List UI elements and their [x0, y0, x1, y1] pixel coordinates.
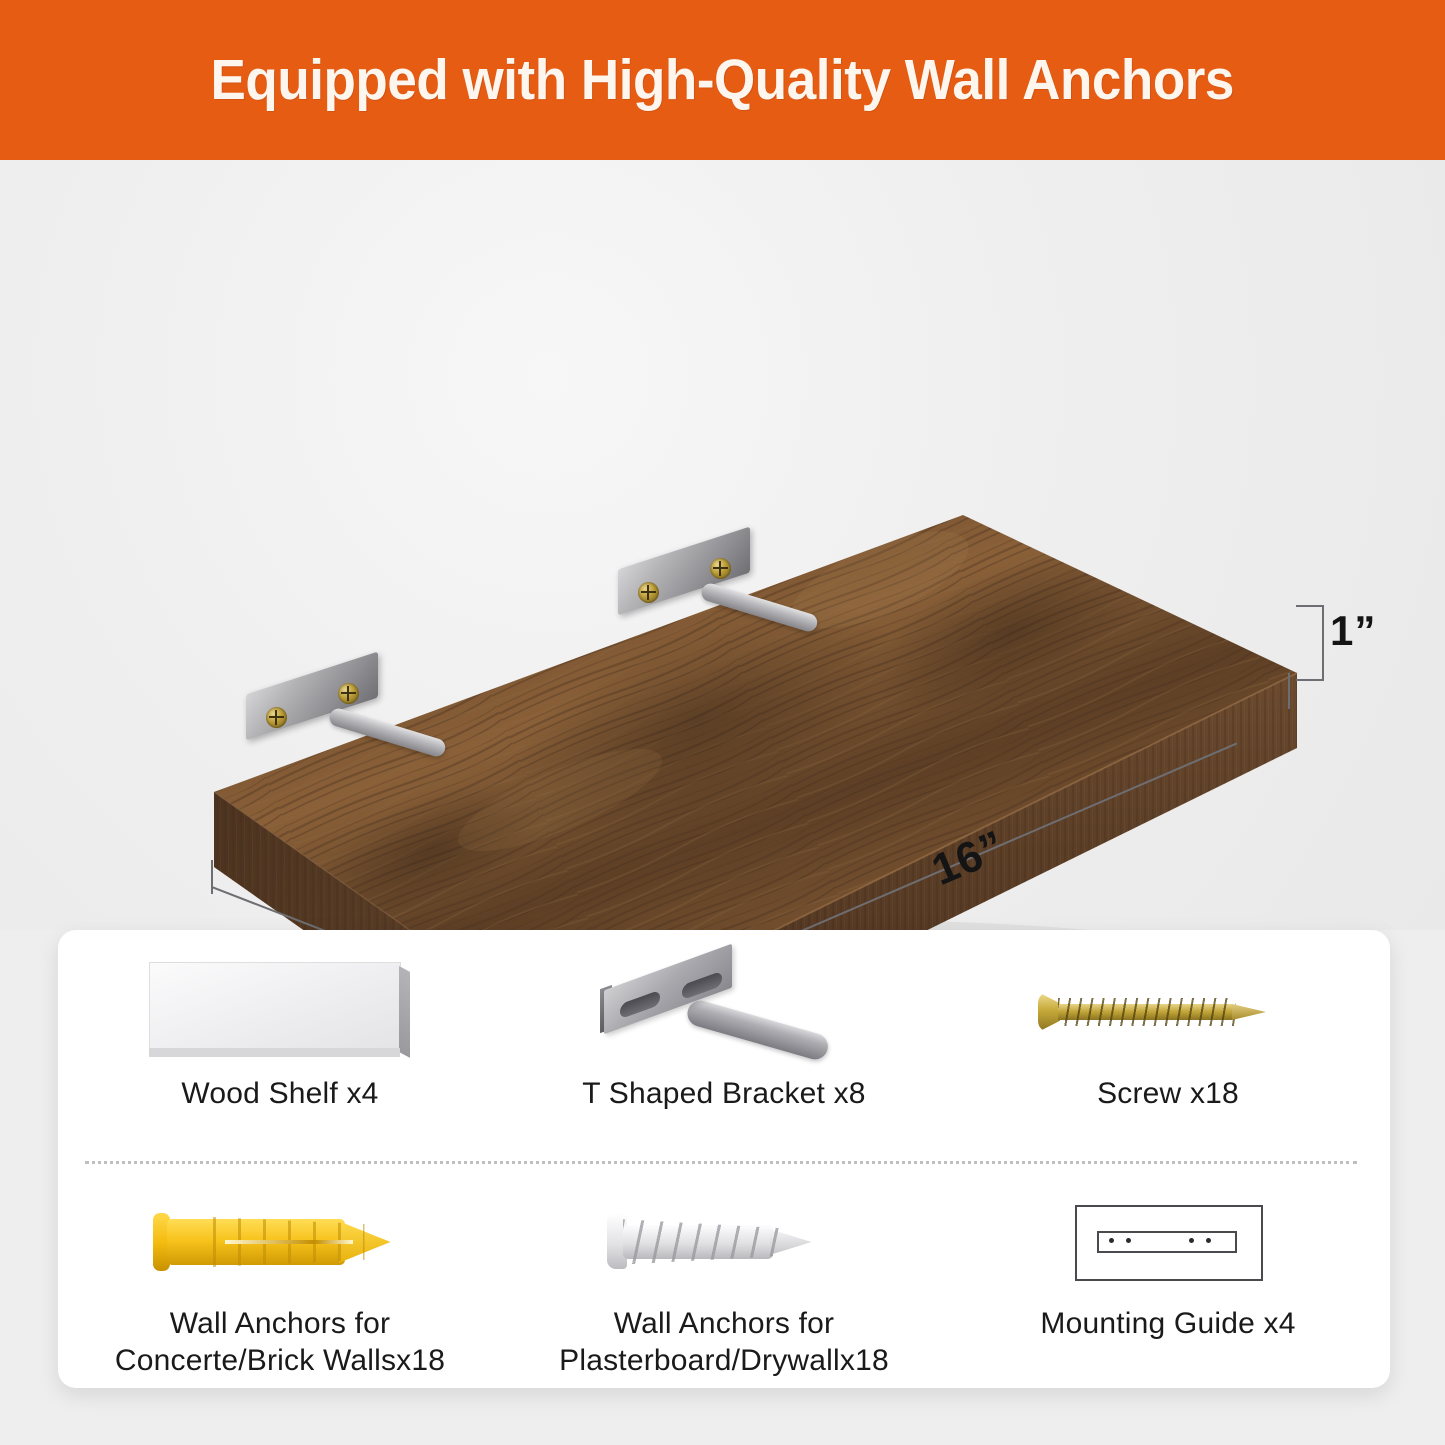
screw-head: [1038, 992, 1060, 1032]
bracket-rod: [699, 581, 819, 633]
bracket-screw: [710, 558, 731, 579]
screw-icon: [946, 956, 1390, 1068]
parts-row-bottom: Wall Anchors for Concerte/Brick Wallsx18…: [58, 1186, 1390, 1382]
wood-shelf-icon: [58, 956, 502, 1068]
length-dimension-line: [555, 743, 1237, 930]
part-label-line-1: Mounting Guide x4: [1040, 1306, 1295, 1343]
guide-hole-marker: [1206, 1238, 1211, 1243]
screw-threads: [1058, 998, 1236, 1026]
parts-row-top: Wood Shelf x4 T Shaped Bracket x8 Screw …: [58, 956, 1390, 1156]
wood-shelf-side-face: [399, 966, 410, 1058]
part-label-line-1: Wall Anchors for: [559, 1306, 889, 1343]
guide-strip: [1097, 1231, 1237, 1253]
part-label-line-1: Wall Anchors for: [115, 1306, 445, 1343]
length-dimension-label: 16”: [925, 821, 1013, 896]
part-item-t-shaped-bracket: T Shaped Bracket x8: [502, 956, 946, 1156]
anchor-slit: [225, 1240, 353, 1244]
t-shaped-bracket-icon: [502, 956, 946, 1068]
product-hero-image: 1” 16” 6.7”: [0, 160, 1445, 930]
guide-hole-marker: [1189, 1238, 1194, 1243]
part-item-concrete-anchor: Wall Anchors for Concerte/Brick Wallsx18: [58, 1186, 502, 1382]
bracket-screw: [266, 707, 287, 728]
depth-dimension-line: [211, 886, 575, 930]
part-label: T Shaped Bracket x8: [582, 1076, 865, 1113]
guide-hole-marker: [1109, 1238, 1114, 1243]
bracket-screw: [638, 582, 659, 603]
part-label-line-2: Concerte/Brick Wallsx18: [115, 1343, 445, 1380]
page-title: Equipped with High-Quality Wall Anchors: [211, 47, 1234, 113]
bracket-screw: [338, 683, 359, 704]
wood-shelf-top-face: [149, 962, 401, 1050]
parts-divider: [85, 1161, 1357, 1164]
part-item-screw: Screw x18: [946, 956, 1390, 1156]
part-item-mounting-guide: Mounting Guide x4: [946, 1186, 1390, 1382]
bracket-rod: [327, 706, 447, 758]
screw-tip: [1232, 1004, 1266, 1020]
mounting-guide-icon: [946, 1186, 1390, 1298]
guide-hole-marker: [1126, 1238, 1131, 1243]
header-banner: Equipped with High-Quality Wall Anchors: [0, 0, 1445, 160]
length-dimension-tick: [1288, 673, 1290, 709]
part-item-drywall-anchor: Wall Anchors for Plasterboard/Drywallx18: [502, 1186, 946, 1382]
yellow-wall-anchor-icon: [58, 1186, 502, 1298]
white-wall-anchor-icon: [502, 1186, 946, 1298]
thickness-dimension-label: 1”: [1330, 607, 1376, 655]
part-label: Screw x18: [1097, 1076, 1239, 1113]
anchor-threads: [623, 1215, 779, 1269]
part-item-wood-shelf: Wood Shelf x4: [58, 956, 502, 1156]
depth-dimension-tick: [211, 860, 213, 894]
thickness-dimension-bracket: [1296, 605, 1324, 681]
wood-shelf-front-face: [149, 1048, 400, 1057]
part-label: Wood Shelf x4: [181, 1076, 378, 1113]
bracket-rod: [684, 998, 831, 1063]
part-label-line-2: Plasterboard/Drywallx18: [559, 1343, 889, 1380]
